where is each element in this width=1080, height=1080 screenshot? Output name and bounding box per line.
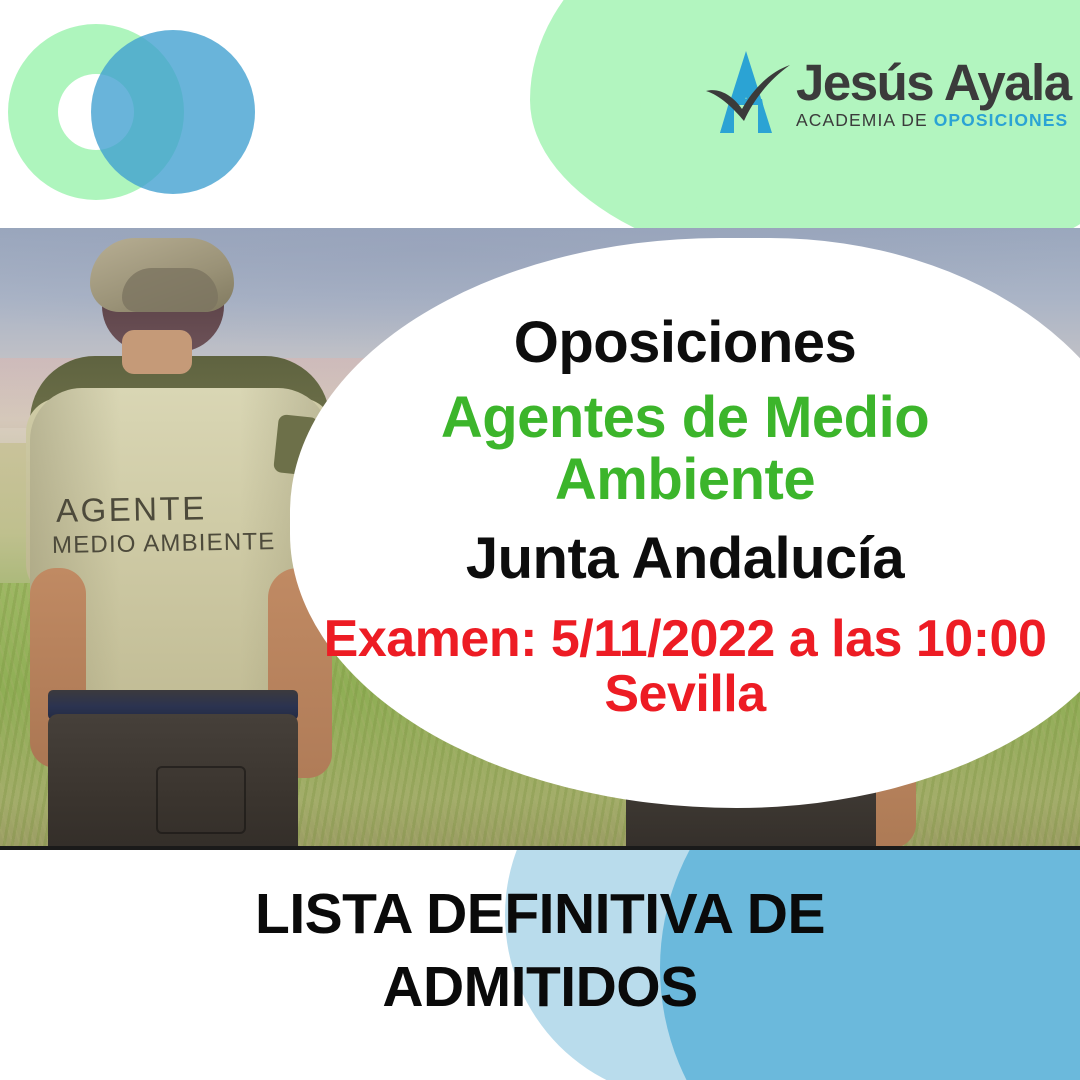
a-checkmark-logo-icon: [700, 47, 794, 137]
uniform-text-agente: AGENTE: [56, 488, 277, 530]
headline-block: Oposiciones Agentes de Medio Ambiente Ju…: [290, 312, 1080, 722]
footer-line-1: LISTA DEFINITIVA DE: [0, 878, 1080, 951]
footer-headline: LISTA DEFINITIVA DE ADMITIDOS: [0, 878, 1080, 1024]
ranger-pants-pocket: [156, 766, 246, 834]
headline-line-agentes: Agentes de Medio: [290, 387, 1080, 448]
brand-subtitle-plain: ACADEMIA DE: [796, 110, 934, 130]
brand-subtitle: ACADEMIA DE OPOSICIONES: [796, 110, 1071, 131]
footer-line-2: ADMITIDOS: [0, 951, 1080, 1024]
headline-line-ambiente: Ambiente: [290, 449, 1080, 510]
headline-line-junta: Junta Andalucía: [290, 528, 1080, 589]
exam-date-line: Examen: 5/11/2022 a las 10:00: [290, 612, 1080, 667]
venn-circles-decoration: [8, 22, 258, 202]
headline-line-oposiciones: Oposiciones: [290, 312, 1080, 373]
ranger-cap-band: [122, 268, 218, 312]
uniform-text-medio-ambiente: MEDIO AMBIENTE: [52, 528, 282, 560]
brand-logo-text: Jesús Ayala ACADEMIA DE OPOSICIONES: [796, 53, 1071, 131]
ranger-neck: [122, 330, 192, 374]
brand-name: Jesús Ayala: [796, 59, 1071, 107]
footer-band: LISTA DEFINITIVA DE ADMITIDOS: [0, 850, 1080, 1080]
exam-city-line: Sevilla: [290, 667, 1080, 722]
brand-subtitle-accent: OPOSICIONES: [934, 110, 1069, 130]
spacer: [290, 590, 1080, 612]
brand-logo[interactable]: Jesús Ayala ACADEMIA DE OPOSICIONES: [700, 40, 1045, 144]
poster-root: Jesús Ayala ACADEMIA DE OPOSICIONES: [0, 0, 1080, 1080]
